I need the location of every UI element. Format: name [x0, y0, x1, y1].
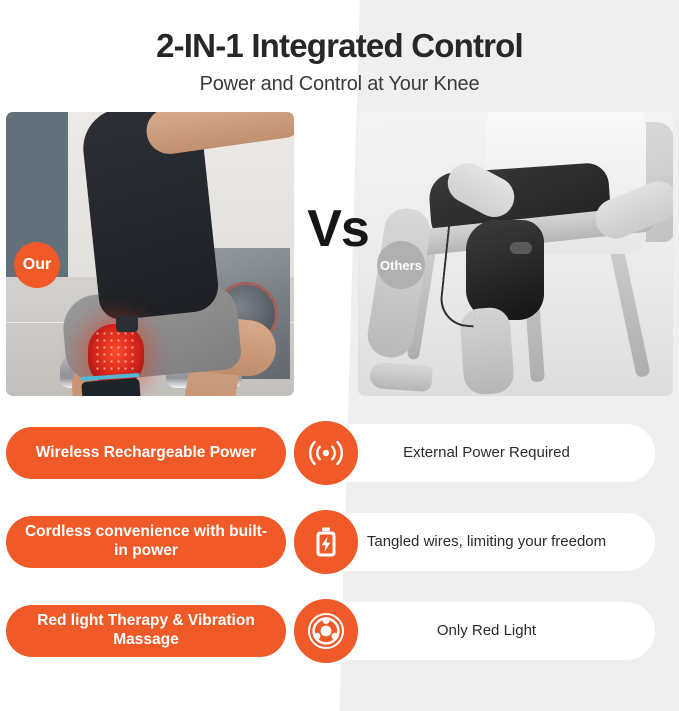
header: 2-IN-1 Integrated Control Power and Cont… — [0, 0, 679, 96]
person-foot — [369, 362, 433, 392]
others-feature-pill: Tangled wires, limiting your freedom — [318, 513, 655, 571]
feature-comparison-list: External Power Required Wireless Recharg… — [0, 424, 679, 691]
our-feature-label: Cordless convenience with built-in power — [20, 523, 272, 560]
chair-leg-3 — [607, 236, 650, 378]
others-feature-label: Only Red Light — [437, 622, 536, 641]
knee-brace-control-knob — [116, 316, 138, 332]
vs-label: Vs — [288, 203, 388, 255]
page-title: 2-IN-1 Integrated Control — [0, 0, 679, 64]
our-feature-pill: Red light Therapy & Vibration Massage — [6, 605, 286, 657]
battery-charging-icon — [291, 507, 361, 577]
others-feature-pill: Only Red Light — [318, 602, 655, 660]
our-feature-pill: Wireless Rechargeable Power — [6, 427, 286, 479]
vibration-massage-icon — [291, 596, 361, 666]
others-badge-label: Others — [380, 258, 422, 273]
product-comparison-infographic: 2-IN-1 Integrated Control Power and Cont… — [0, 0, 679, 711]
our-badge: Our — [14, 242, 60, 288]
comparison-row: Tangled wires, limiting your freedom Cor… — [0, 513, 679, 571]
others-feature-label: External Power Required — [403, 444, 570, 463]
others-feature-pill: External Power Required — [318, 424, 655, 482]
our-badge-label: Our — [23, 256, 51, 274]
our-feature-label: Red light Therapy & Vibration Massage — [20, 612, 272, 649]
comparison-row: External Power Required Wireless Recharg… — [0, 424, 679, 482]
knee-brace-strap — [81, 378, 140, 396]
comparison-row: Only Red Light Red light Therapy & Vibra… — [0, 602, 679, 660]
page-subtitle: Power and Control at Your Knee — [0, 64, 679, 96]
wireless-signal-icon — [291, 418, 361, 488]
our-feature-pill: Cordless convenience with built-in power — [6, 516, 286, 568]
others-feature-label: Tangled wires, limiting your freedom — [367, 533, 606, 552]
our-feature-label: Wireless Rechargeable Power — [36, 444, 256, 463]
